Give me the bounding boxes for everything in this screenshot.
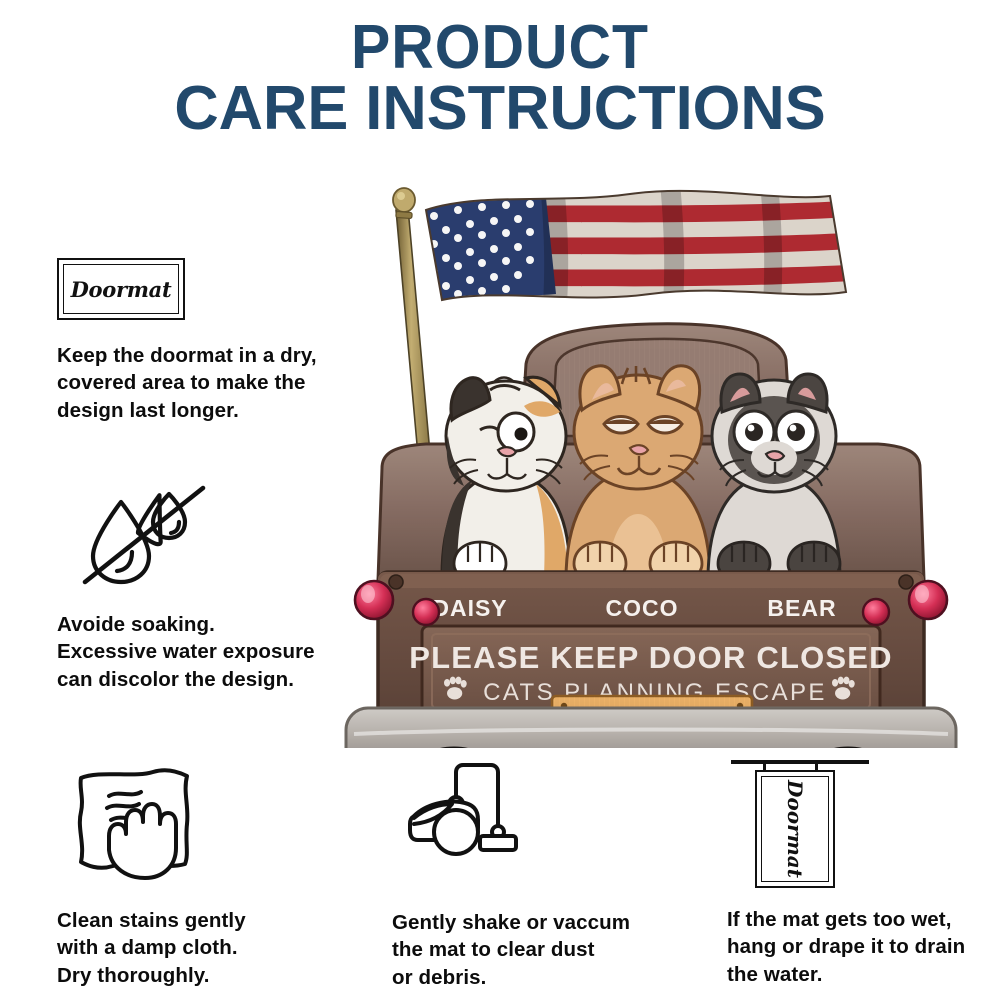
- care-instruction-shake-vacuum: Gently shake or vaccum the mat to clear …: [392, 762, 712, 991]
- care-instruction-text: Gently shake or vaccum the mat to clear …: [392, 909, 712, 991]
- vacuum-cleaner-icon: [392, 762, 712, 893]
- doormat-label-icon: Doormat: [57, 258, 357, 320]
- cloth-hand-wipe-icon: [57, 762, 357, 891]
- taillight-outer-right: [909, 581, 947, 619]
- hanging-doormat-label: Doormat: [783, 780, 807, 878]
- pet-name-0: DAISY: [432, 595, 507, 621]
- hanging-doormat-icon: Doormat: [727, 752, 897, 892]
- page-title: PRODUCT CARE INSTRUCTIONS: [0, 18, 1000, 140]
- sign-line1: PLEASE KEEP DOOR CLOSED: [409, 640, 893, 675]
- care-instructions-page: PRODUCT CARE INSTRUCTIONS Doormat Keep t…: [0, 0, 1000, 1000]
- no-water-droplets-icon: [57, 482, 357, 595]
- truck-bumper: [346, 708, 956, 748]
- doormat-icon-label: Doormat: [71, 277, 172, 302]
- care-instruction-damp-cloth: Clean stains gently with a damp cloth. D…: [57, 762, 357, 989]
- care-instruction-doormat-dry: Doormat Keep the doormat in a dry, cover…: [57, 258, 357, 424]
- care-instruction-text: If the mat gets too wet, hang or drape i…: [727, 906, 1000, 988]
- page-title-line1: PRODUCT: [25, 18, 975, 79]
- american-flag: [410, 168, 880, 328]
- cats-group: [442, 366, 840, 580]
- taillight-inner-right: [863, 599, 889, 625]
- care-instruction-hang-to-drain: Doormat If the mat gets too wet, hang or…: [727, 752, 1000, 988]
- pet-name-1: COCO: [606, 595, 679, 621]
- care-instruction-avoid-soaking: Avoide soaking. Excessive water exposure…: [57, 482, 357, 693]
- taillight-outer-left: [355, 581, 393, 619]
- page-title-line2: CARE INSTRUCTIONS: [5, 79, 995, 140]
- hanging-rod: [731, 760, 869, 764]
- taillight-inner-left: [413, 599, 439, 625]
- care-instruction-text: Clean stains gently with a damp cloth. D…: [57, 907, 357, 989]
- pet-name-2: BEAR: [767, 595, 836, 621]
- care-instruction-text: Avoide soaking. Excessive water exposure…: [57, 611, 357, 693]
- care-instruction-text: Keep the doormat in a dry, covered area …: [57, 342, 357, 424]
- product-illustration: DAISY COCO BEAR PLEASE KEEP DOOR CLOSED …: [330, 168, 970, 748]
